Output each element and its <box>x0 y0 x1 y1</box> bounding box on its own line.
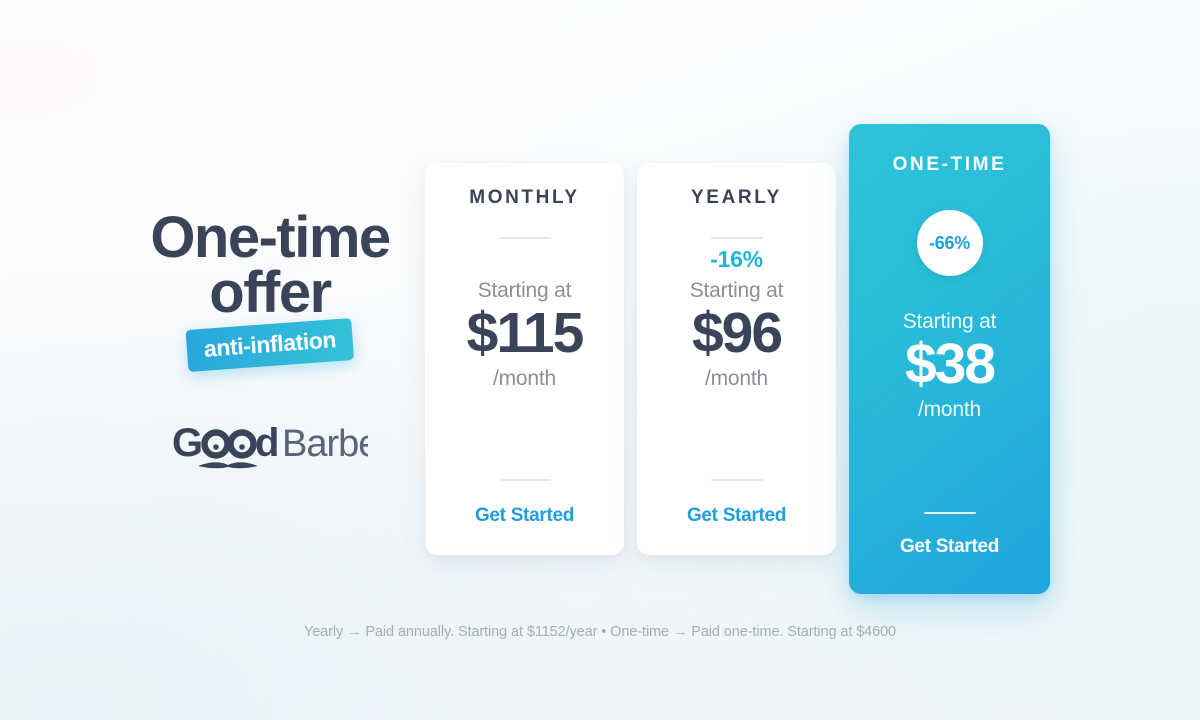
pricing-cards: MONTHLY Starting at $115 /month Get Star… <box>425 124 1055 594</box>
plan-period: /month <box>493 366 556 391</box>
starting-at-label: Starting at <box>690 279 784 302</box>
plan-period: /month <box>705 366 768 391</box>
discount-circle-badge: -66% <box>917 210 983 276</box>
pricing-card-yearly[interactable]: YEARLY -16% Starting at $96 /month Get S… <box>637 163 836 555</box>
plan-title: YEARLY <box>691 187 782 209</box>
pricing-footnote: Yearly → Paid annually. Starting at $115… <box>0 624 1200 640</box>
price-block: Starting at $96 /month <box>690 279 784 391</box>
pricing-card-one-time[interactable]: ONE-TIME -66% Starting at $38 /month Get… <box>849 124 1050 594</box>
starting-at-label: Starting at <box>478 279 572 302</box>
svg-text:G: G <box>172 421 202 465</box>
card-divider-bottom <box>499 479 551 481</box>
svg-text:Barber: Barber <box>282 423 368 465</box>
discount-slot: -16% <box>710 239 763 279</box>
pricing-card-monthly[interactable]: MONTHLY Starting at $115 /month Get Star… <box>425 163 624 555</box>
plan-title: ONE-TIME <box>893 154 1007 176</box>
price-block: Starting at $115 /month <box>467 279 583 391</box>
get-started-button[interactable]: Get Started <box>687 505 786 527</box>
card-divider-bottom <box>924 512 976 514</box>
card-divider-bottom <box>711 479 763 481</box>
goodbarber-logo-icon: G d Barber <box>172 418 368 474</box>
plan-price: $96 <box>692 304 781 364</box>
plan-price: $115 <box>467 304 583 364</box>
anti-inflation-badge: anti-inflation <box>185 318 354 372</box>
card-divider-top <box>499 237 551 239</box>
get-started-button[interactable]: Get Started <box>900 536 999 558</box>
svg-text:d: d <box>255 421 278 465</box>
discount-badge: -16% <box>710 246 763 273</box>
plan-price: $38 <box>905 335 994 395</box>
plan-period: /month <box>918 397 981 422</box>
pricing-promo-page: One-time offer anti-inflation G d Barber <box>0 0 1200 720</box>
price-block: Starting at $38 /month <box>903 310 997 422</box>
starting-at-label: Starting at <box>903 310 997 333</box>
plan-title: MONTHLY <box>469 187 579 209</box>
get-started-button[interactable]: Get Started <box>475 505 574 527</box>
